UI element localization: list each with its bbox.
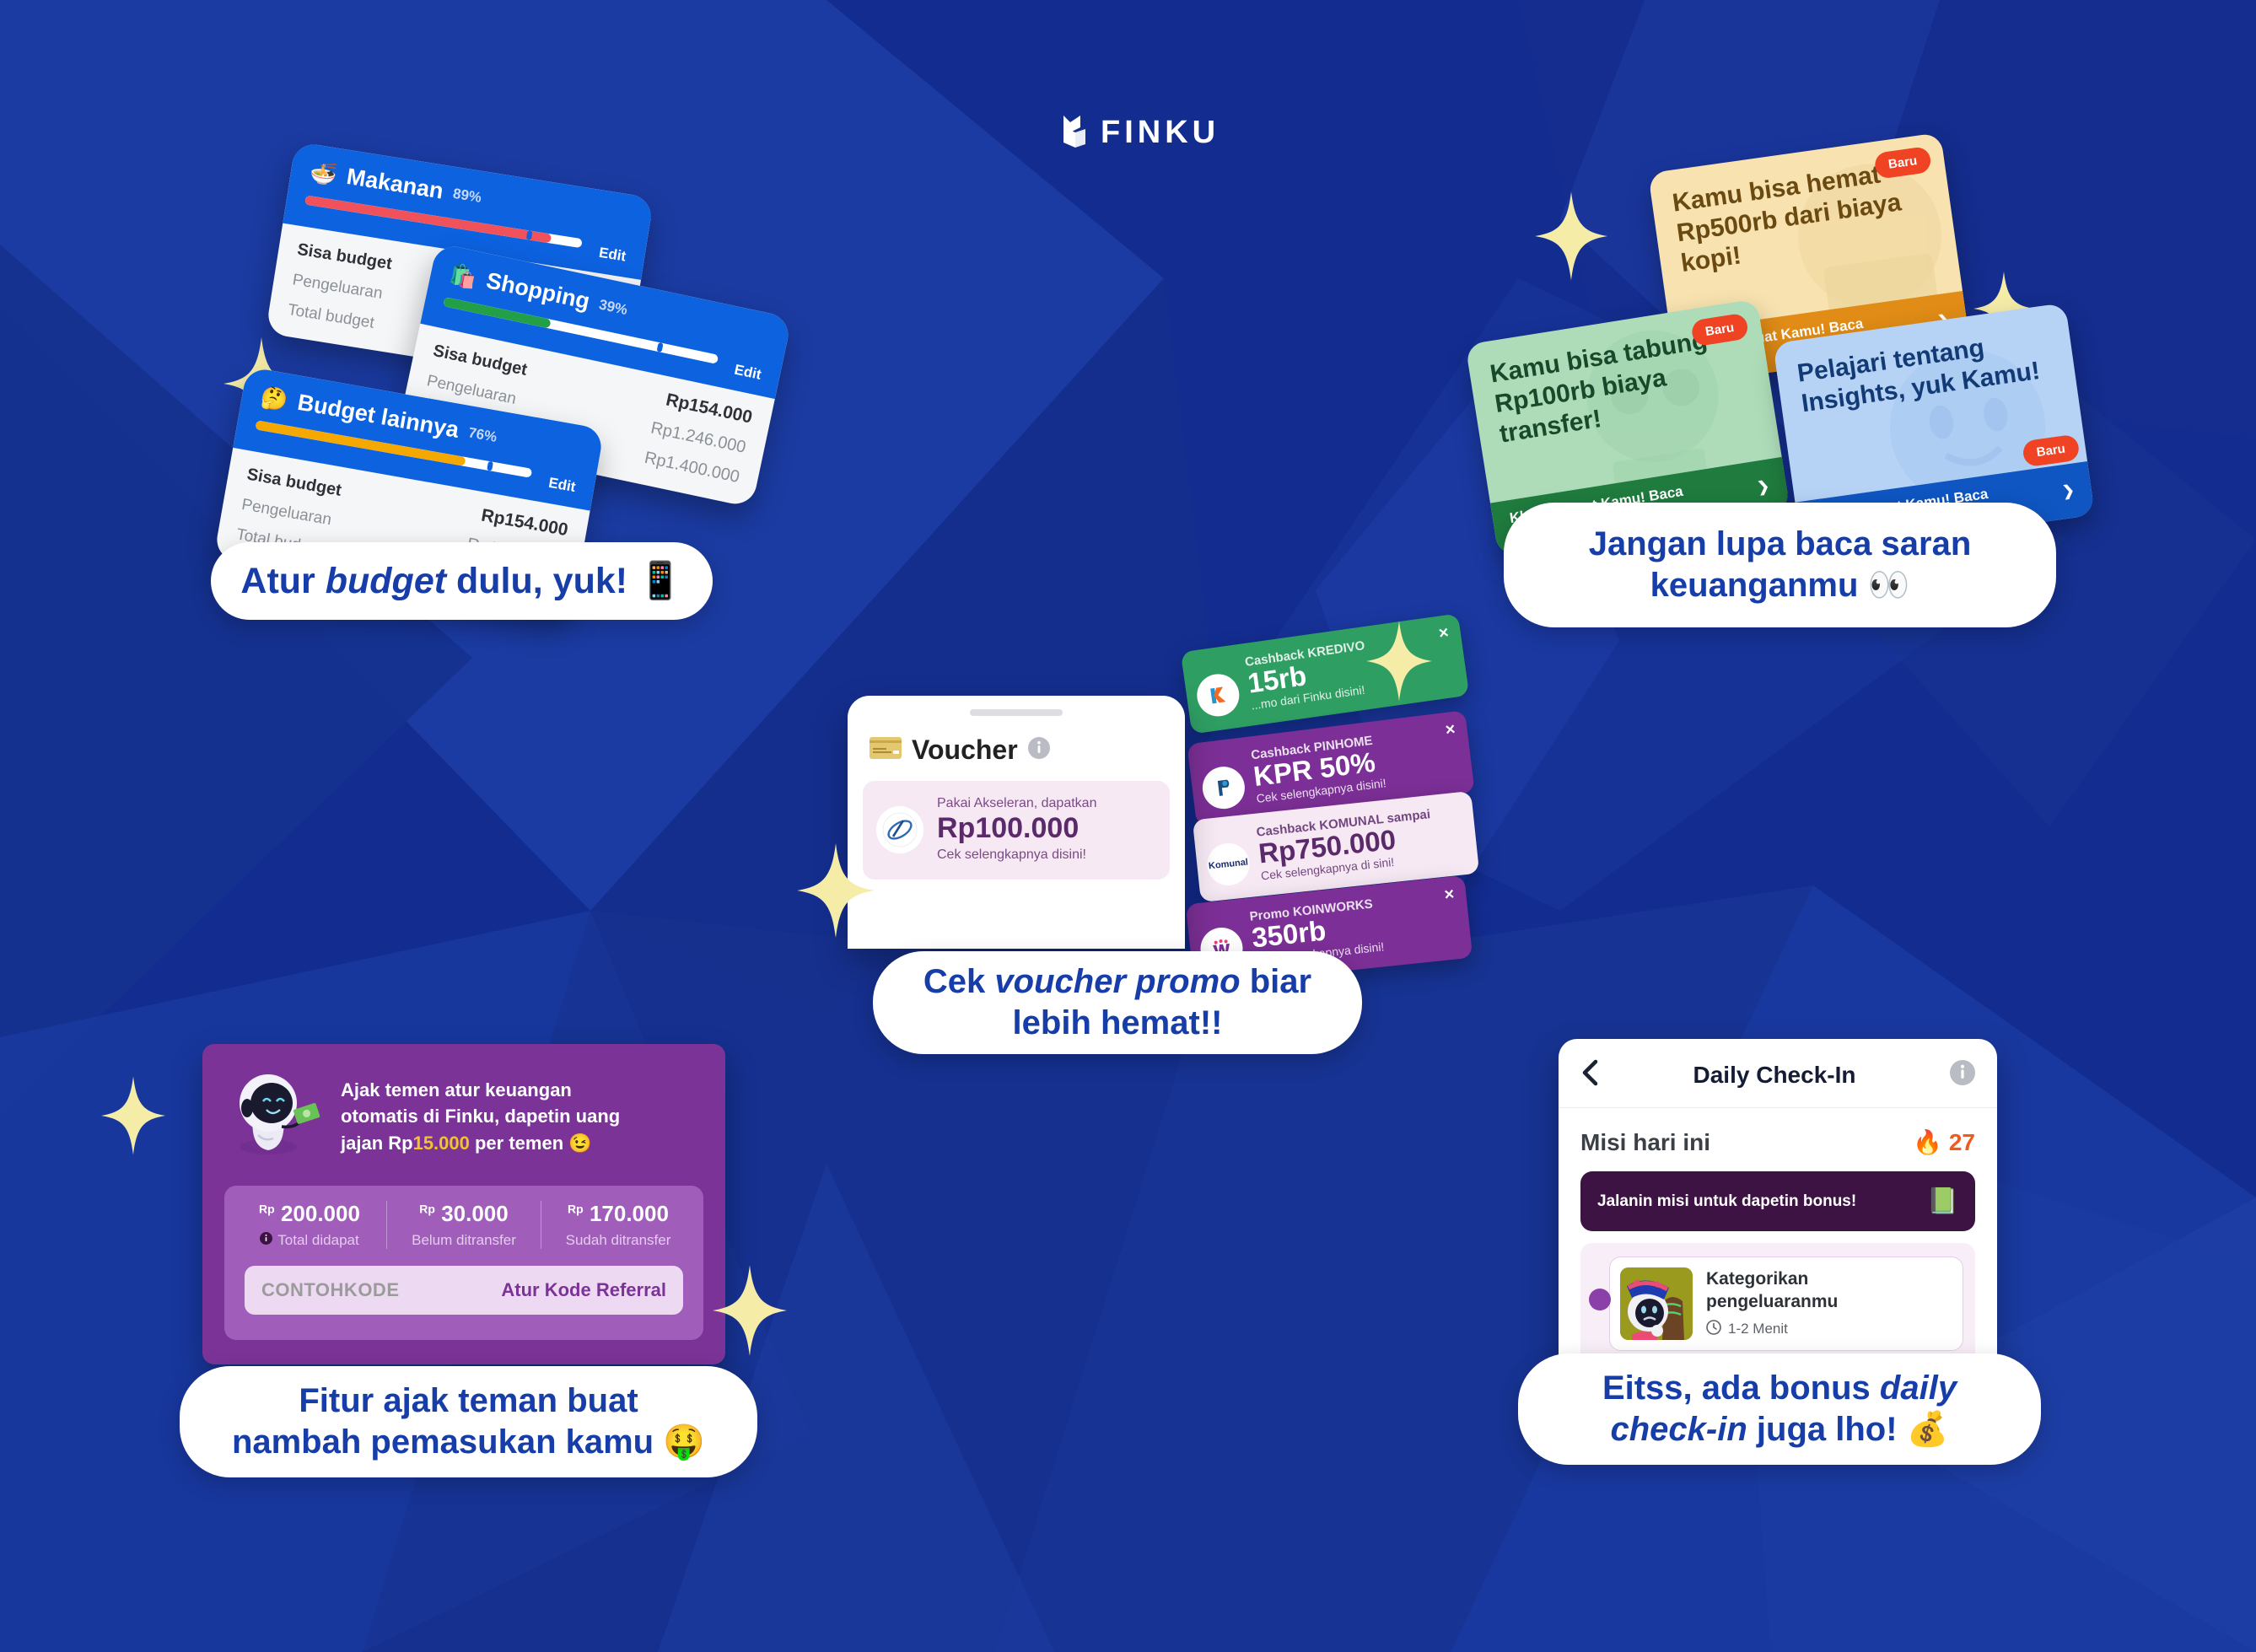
caption-insight-line2: keuanganmu 👀: [1650, 565, 1910, 606]
referral-stat-label: Sudah ditransfer: [547, 1232, 690, 1249]
budget-percent: 89%: [452, 185, 483, 206]
budget-row-label: Sisa budget: [245, 465, 343, 500]
caption-checkin: Eitss, ada bonus daily check-in juga lho…: [1518, 1353, 2041, 1465]
referral-stat-transferred: Rp 170.000 Sudah ditransfer: [541, 1201, 695, 1249]
referral-copy-line3: jajan Rp15.000 per temen 😉: [341, 1130, 620, 1156]
sparkle-icon: [1366, 620, 1432, 707]
chevron-right-icon: ❯: [1756, 478, 1770, 497]
clock-icon: [1706, 1320, 1721, 1339]
streak-counter: 🔥27: [1913, 1128, 1975, 1156]
chevron-left-icon[interactable]: [1580, 1059, 1599, 1090]
sparkle-icon: [797, 843, 875, 942]
sparkle-icon: [1535, 190, 1607, 287]
finku-logo: FINKU: [1058, 114, 1220, 151]
voucher-header: Voucher: [848, 716, 1185, 781]
caption-checkin-line1: Eitss, ada bonus daily: [1602, 1368, 1957, 1409]
voucher-featured-subtitle: Pakai Akseleran, dapatkan: [937, 796, 1096, 811]
mission-title: Kategorikanpengeluaranmu: [1706, 1268, 1838, 1313]
info-icon[interactable]: [1028, 737, 1050, 763]
caption-voucher-line2: lebih hemat!!: [1013, 1003, 1223, 1044]
info-icon[interactable]: [1950, 1060, 1975, 1090]
referral-stat-total: Rp 200.000 Total didapat: [233, 1201, 386, 1249]
akseleran-logo-icon: [876, 806, 923, 853]
voucher-featured-card[interactable]: Pakai Akseleran, dapatkan Rp100.000 Cek …: [863, 781, 1170, 880]
caption-budget-text: Atur budget dulu, yuk! 📱: [240, 559, 682, 603]
voucher-featured-cta: Cek selengkapnya disini!: [937, 848, 1096, 863]
referral-stats-panel: Rp 200.000 Total didapat Rp 30.000 Belum…: [224, 1186, 703, 1340]
daily-checkin-mission-list: Kategorikanpengeluaranmu 1-2 Menit: [1580, 1243, 1975, 1368]
voucher-title: Voucher: [912, 735, 1018, 766]
referral-stat-label: Belum ditransfer: [392, 1232, 536, 1249]
referral-stat-amount: Rp 170.000: [547, 1201, 690, 1227]
eyes-emoji-icon: 👀: [1868, 567, 1910, 604]
mobile-phone-emoji-icon: 📱: [638, 561, 683, 601]
referral-stat-pending: Rp 30.000 Belum ditransfer: [386, 1201, 541, 1249]
fire-emoji-icon: 🔥: [1913, 1128, 1942, 1156]
caption-referral-line1: Fitur ajak teman buat: [299, 1380, 638, 1422]
caption-voucher-line1: Cek voucher promo biar: [923, 961, 1311, 1003]
voucher-panel: Voucher Pakai Akseleran, dapatkan Rp100.…: [848, 696, 1185, 949]
budget-row-label: Total budget: [287, 301, 376, 333]
voucher-featured-amount: Rp100.000: [937, 813, 1096, 844]
referral-code-row[interactable]: CONTOHKODE Atur Kode Referral: [245, 1266, 683, 1315]
daily-checkin-title: Daily Check-In: [1693, 1062, 1856, 1089]
finku-robot-mascot-icon: [224, 1066, 326, 1167]
daily-checkin-banner: Jalanin misi untuk dapetin bonus! 📗: [1580, 1171, 1975, 1231]
green-book-emoji-icon: 📗: [1927, 1187, 1958, 1216]
referral-stat-label: Total didapat: [238, 1232, 381, 1249]
insight-card-title: Pelajari tentang Insights, yuk Kamu!: [1796, 324, 2056, 419]
money-mouth-emoji-icon: 🤑: [663, 1423, 705, 1461]
budget-row-label: Pengeluaran: [291, 271, 384, 304]
referral-card: Ajak temen atur keuangan otomatis di Fin…: [202, 1044, 725, 1364]
budget-percent: 76%: [467, 424, 498, 446]
budget-edit-button[interactable]: Edit: [733, 362, 763, 384]
budget-percent: 39%: [597, 296, 628, 319]
budget-row-label: Sisa budget: [296, 240, 394, 274]
wink-emoji-icon: 😉: [568, 1133, 591, 1154]
daily-checkin-banner-text: Jalanin misi untuk dapetin bonus!: [1597, 1192, 1856, 1211]
thinking-face-emoji-icon: 🤔: [259, 385, 289, 411]
drag-handle[interactable]: [970, 709, 1063, 716]
referral-stats: Rp 200.000 Total didapat Rp 30.000 Belum…: [233, 1201, 695, 1249]
budget-row-value: Rp154.000: [480, 505, 569, 541]
set-referral-code-button[interactable]: Atur Kode Referral: [501, 1279, 666, 1301]
caption-referral: Fitur ajak teman buat nambah pemasukan k…: [180, 1366, 757, 1477]
daily-checkin-section: Misi hari ini 🔥27: [1559, 1108, 1997, 1171]
budget-row-label: Pengeluaran: [240, 496, 333, 530]
info-icon[interactable]: [260, 1232, 272, 1249]
caption-budget: Atur budget dulu, yuk! 📱: [211, 542, 713, 620]
shopping-bags-emoji-icon: 🛍️: [448, 261, 479, 288]
budget-edit-button[interactable]: Edit: [598, 245, 627, 266]
daily-checkin-panel: Daily Check-In Misi hari ini 🔥27 Jalanin…: [1559, 1039, 1997, 1376]
budget-category-name: Makanan: [345, 164, 445, 205]
budget-row-value: Rp154.000: [664, 390, 754, 428]
referral-copy: Ajak temen atur keuangan otomatis di Fin…: [341, 1077, 620, 1156]
caption-referral-line2: nambah pemasukan kamu 🤑: [232, 1422, 705, 1463]
caption-voucher: Cek voucher promo biar lebih hemat!!: [873, 951, 1362, 1054]
finku-wallet-logo-icon: [1058, 114, 1087, 151]
poster-canvas: FINKU 🍜 Makanan 89%: [0, 0, 2256, 1652]
caption-insight: Jangan lupa baca saran keuanganmu 👀: [1504, 503, 2056, 627]
caption-checkin-line2: check-in juga lho! 💰: [1611, 1409, 1949, 1450]
daily-checkin-header: Daily Check-In: [1559, 1039, 1997, 1108]
daily-checkin-section-title: Misi hari ini: [1580, 1129, 1710, 1156]
finku-logo-text: FINKU: [1101, 115, 1220, 151]
chevron-right-icon: ❯: [2061, 482, 2076, 501]
mission-duration: 1-2 Menit: [1706, 1320, 1838, 1339]
referral-header: Ajak temen atur keuangan otomatis di Fin…: [202, 1044, 725, 1186]
caption-insight-line1: Jangan lupa baca saran: [1589, 524, 1972, 565]
referral-stat-amount: Rp 200.000: [238, 1201, 381, 1227]
mission-step-dot: [1589, 1289, 1611, 1310]
referral-copy-line2: otomatis di Finku, dapetin uang: [341, 1103, 620, 1129]
mission-item-kategorikan[interactable]: Kategorikanpengeluaranmu 1-2 Menit: [1609, 1256, 1963, 1351]
finku-robot-thumbnail-icon: [1620, 1267, 1693, 1340]
sparkle-icon: [713, 1265, 787, 1360]
credit-card-icon: [870, 737, 902, 763]
budget-edit-button[interactable]: Edit: [547, 475, 577, 496]
money-bag-emoji-icon: 💰: [1907, 1411, 1949, 1448]
referral-code-input[interactable]: CONTOHKODE: [261, 1279, 400, 1301]
food-emoji-icon: 🍜: [308, 159, 338, 186]
sparkle-icon: [101, 1075, 165, 1160]
referral-stat-amount: Rp 30.000: [392, 1201, 536, 1227]
referral-copy-line1: Ajak temen atur keuangan: [341, 1077, 620, 1103]
